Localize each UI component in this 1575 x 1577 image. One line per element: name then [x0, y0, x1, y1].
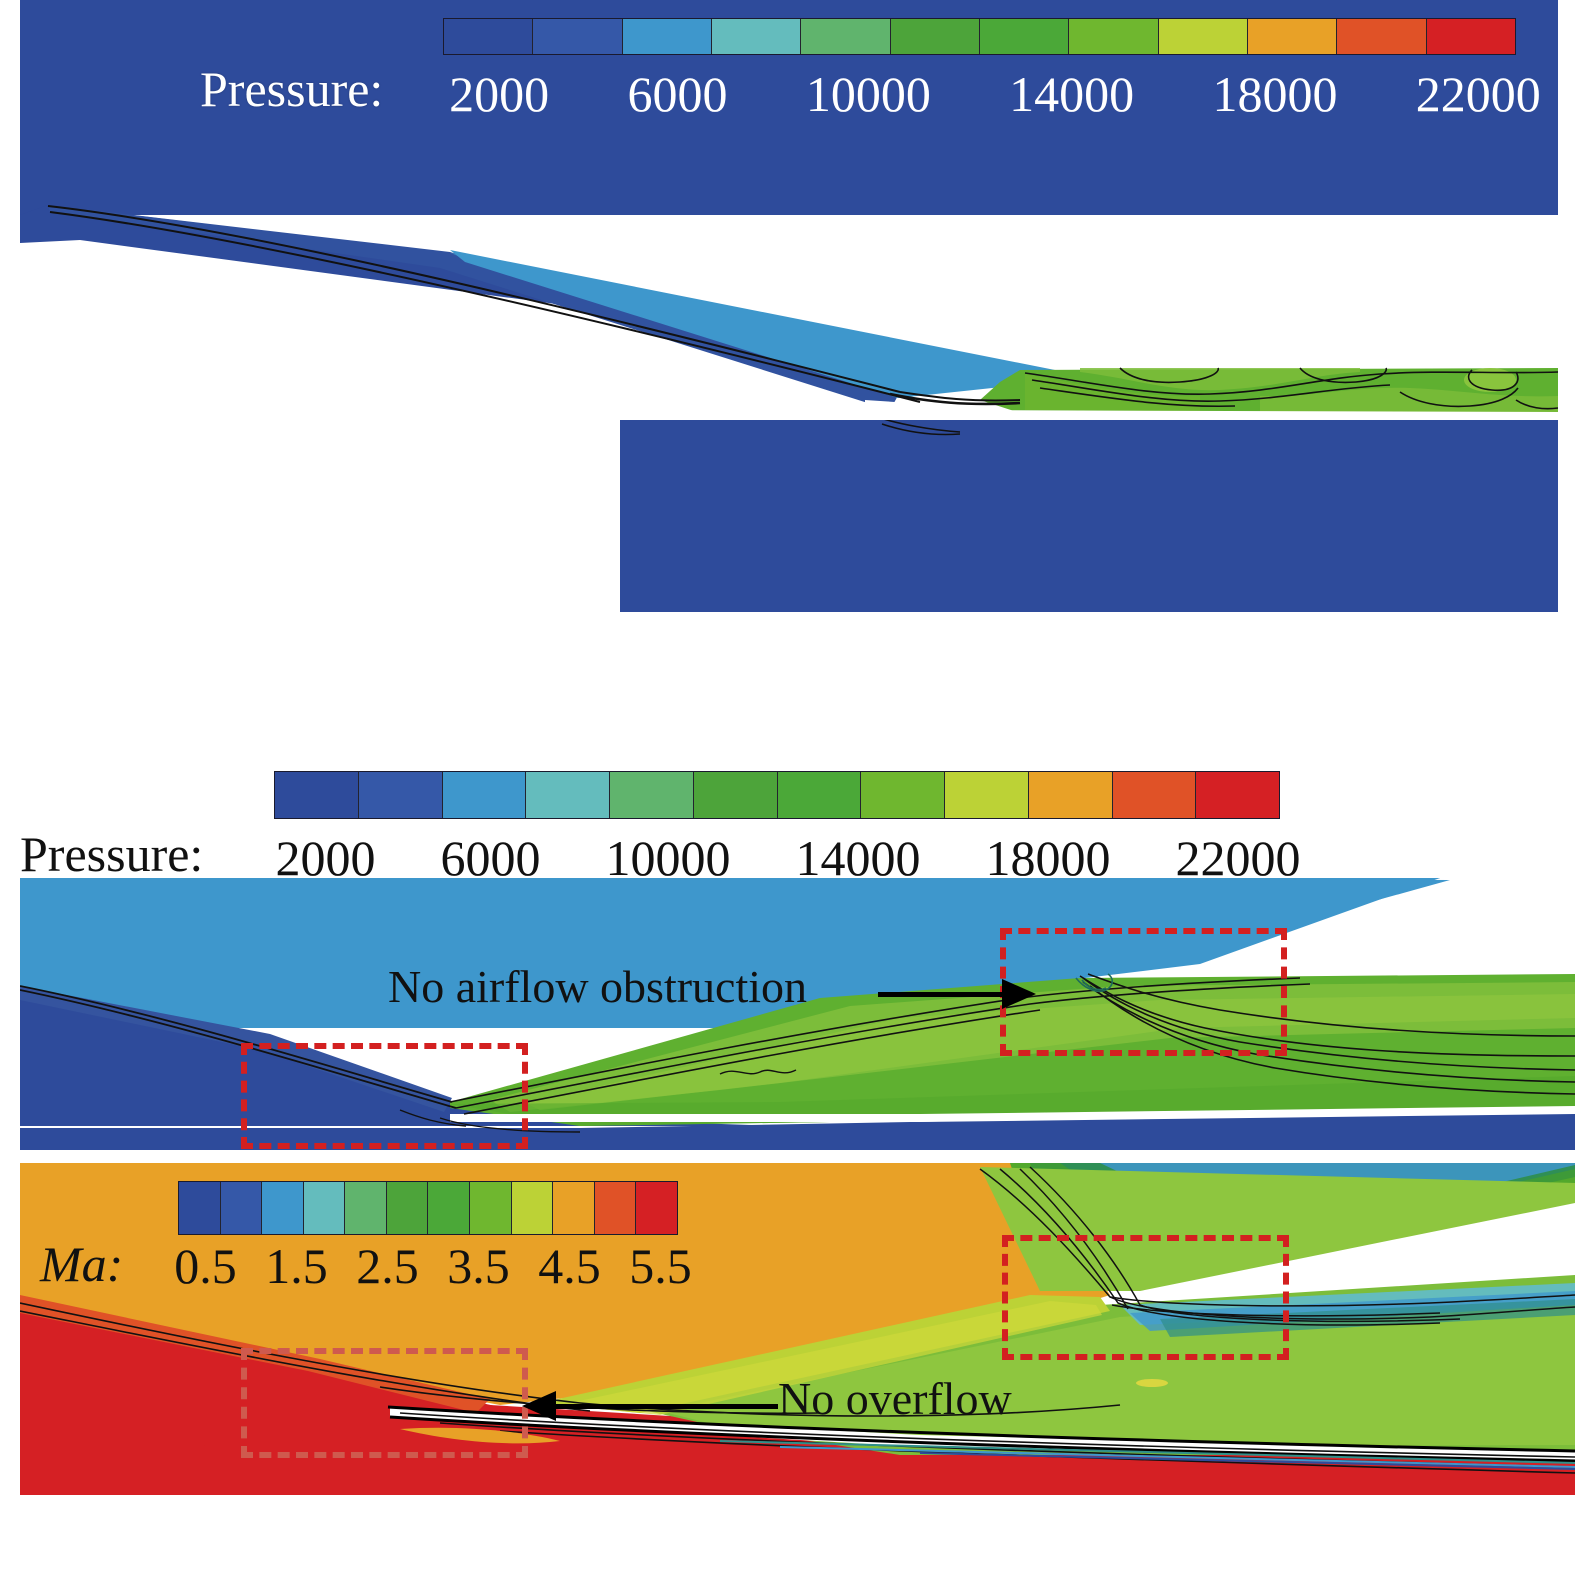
tick-ma-0: 0.5 [160, 1237, 251, 1295]
legend-pressure-a: Pressure: 2000 6000 10000 14000 18000 22… [200, 8, 1540, 124]
legend-mach: Ma: 0.5 1.5 2.5 3.5 4.5 5.5 [20, 1175, 720, 1290]
colorbar-ticks-b: 2000 6000 10000 14000 18000 22000 [243, 829, 1333, 887]
annotation-arrow-head-overflow [522, 1391, 556, 1421]
tick-a-2: 10000 [767, 65, 970, 123]
annotation-arrow-head-airflow [1002, 979, 1036, 1009]
tick-b-2: 10000 [573, 829, 763, 887]
legend-label-pressure-a: Pressure: [200, 60, 383, 118]
panel-a: Pressure: 2000 6000 10000 14000 18000 22… [0, 0, 1575, 615]
highlight-box-throat-pressure [1000, 928, 1287, 1056]
tick-b-3: 14000 [763, 829, 953, 887]
colorbar-mach [178, 1181, 678, 1235]
colorbar-ticks-a: 2000 6000 10000 14000 18000 22000 [410, 65, 1575, 123]
tick-b-1: 6000 [408, 829, 573, 887]
tick-a-5: 22000 [1377, 65, 1575, 123]
highlight-box-inlet-lip-mach [241, 1348, 528, 1458]
legend-pressure-b: Pressure: 2000 6000 10000 14000 18000 22… [0, 755, 1330, 875]
legend-label-mach: Ma: [40, 1235, 123, 1293]
highlight-box-inlet-lip-pressure [241, 1043, 528, 1149]
tick-a-4: 18000 [1173, 65, 1376, 123]
annotation-arrow-line-airflow [878, 992, 1008, 997]
tick-a-3: 14000 [970, 65, 1173, 123]
colorbar-pressure-b [274, 771, 1280, 819]
tick-b-4: 18000 [953, 829, 1143, 887]
colorbar-ticks-mach: 0.5 1.5 2.5 3.5 4.5 5.5 [160, 1237, 706, 1295]
tick-ma-4: 4.5 [524, 1237, 615, 1295]
tick-a-0: 2000 [410, 65, 588, 123]
tick-ma-2: 2.5 [342, 1237, 433, 1295]
annotation-arrow-line-overflow [556, 1404, 778, 1409]
highlight-box-throat-mach [1002, 1235, 1289, 1360]
annotation-no-overflow: No overflow [778, 1372, 1012, 1425]
panel-b: Pressure: 2000 6000 10000 14000 18000 22… [0, 700, 1575, 1577]
tick-b-5: 22000 [1143, 829, 1333, 887]
tick-a-1: 6000 [588, 65, 766, 123]
tick-ma-5: 5.5 [615, 1237, 706, 1295]
annotation-no-airflow-obstruction: No airflow obstruction [388, 960, 807, 1013]
tick-ma-1: 1.5 [251, 1237, 342, 1295]
tick-b-0: 2000 [243, 829, 408, 887]
tick-ma-3: 3.5 [433, 1237, 524, 1295]
colorbar-pressure-a [443, 18, 1516, 55]
legend-label-pressure-b: Pressure: [20, 825, 203, 883]
